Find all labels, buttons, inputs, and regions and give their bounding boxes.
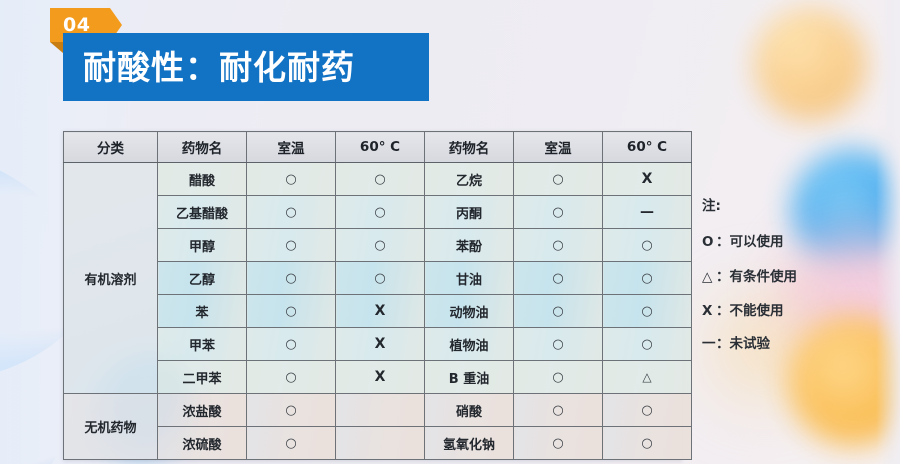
col-header-60c-left: 60° C bbox=[336, 132, 425, 163]
col-header-60c-right: 60° C bbox=[603, 132, 692, 163]
circle-icon: ○ bbox=[552, 337, 563, 352]
chemical-name-left: 甲苯 bbox=[158, 328, 247, 361]
sixtyc-result-left: ○ bbox=[336, 229, 425, 262]
category-cell: 无机药物 bbox=[64, 394, 158, 460]
sixtyc-result-right: ○ bbox=[603, 229, 692, 262]
sixtyc-result-left: ○ bbox=[336, 262, 425, 295]
circle-icon: ○ bbox=[374, 238, 385, 253]
table-row: 乙醇○○甘油○○ bbox=[64, 262, 692, 295]
col-header-chemical-right: 药物名 bbox=[425, 132, 514, 163]
chemical-name-right: 丙酮 bbox=[425, 196, 514, 229]
circle-icon: ○ bbox=[552, 205, 563, 220]
legend-item: O：可以使用 bbox=[702, 236, 877, 250]
circle-icon: ○ bbox=[552, 370, 563, 385]
sixtyc-result-left bbox=[336, 427, 425, 460]
sixtyc-result-left bbox=[336, 394, 425, 427]
circle-icon: ○ bbox=[285, 172, 296, 187]
col-header-category: 分类 bbox=[64, 132, 158, 163]
circle-icon: ○ bbox=[552, 436, 563, 451]
sixtyc-result-right: ○ bbox=[603, 328, 692, 361]
sixtyc-result-right: ○ bbox=[603, 427, 692, 460]
roomtemp-result-left: ○ bbox=[247, 163, 336, 196]
circle-icon: ○ bbox=[285, 436, 296, 451]
table-row: 甲苯○X植物油○○ bbox=[64, 328, 692, 361]
circle-icon: ○ bbox=[641, 337, 652, 352]
roomtemp-result-left: ○ bbox=[247, 394, 336, 427]
chemical-name-right: 甘油 bbox=[425, 262, 514, 295]
chemical-name-right: 动物油 bbox=[425, 295, 514, 328]
spec-table-container: 分类 药物名 室温 60° C 药物名 室温 60° C 有机溶剂醋酸○○乙烷○… bbox=[63, 131, 682, 460]
cross-icon: X bbox=[375, 336, 386, 352]
chemical-name-left: 浓盐酸 bbox=[158, 394, 247, 427]
chemical-name-left: 二甲苯 bbox=[158, 361, 247, 394]
circle-icon: ○ bbox=[285, 370, 296, 385]
roomtemp-result-right: ○ bbox=[514, 262, 603, 295]
sixtyc-result-left: ○ bbox=[336, 196, 425, 229]
title-banner: 耐酸性：耐化耐药 bbox=[63, 33, 429, 101]
table-row: 二甲苯○XB 重油○△ bbox=[64, 361, 692, 394]
circle-icon: ○ bbox=[552, 403, 563, 418]
legend-text: ：可以使用 bbox=[716, 234, 784, 250]
cross-icon: X bbox=[642, 171, 653, 187]
legend-text: ：有条件使用 bbox=[716, 269, 797, 285]
chemical-name-right: 苯酚 bbox=[425, 229, 514, 262]
roomtemp-result-right: ○ bbox=[514, 394, 603, 427]
sixtyc-result-left: X bbox=[336, 361, 425, 394]
col-header-chemical-left: 药物名 bbox=[158, 132, 247, 163]
circle-icon: ○ bbox=[641, 403, 652, 418]
dash-icon: — bbox=[640, 204, 654, 220]
sixtyc-result-right: △ bbox=[603, 361, 692, 394]
legend-title: 注: bbox=[702, 200, 877, 214]
roomtemp-result-right: ○ bbox=[514, 328, 603, 361]
roomtemp-result-right: ○ bbox=[514, 361, 603, 394]
legend-symbol: O bbox=[702, 236, 716, 250]
sixtyc-result-left: X bbox=[336, 295, 425, 328]
legend-text: ：不能使用 bbox=[716, 303, 784, 319]
right-veil-overlay bbox=[876, 0, 900, 464]
table-body: 有机溶剂醋酸○○乙烷○X乙基醋酸○○丙酮○—甲醇○○苯酚○○乙醇○○甘油○○苯○… bbox=[64, 163, 692, 460]
cross-icon: X bbox=[375, 369, 386, 385]
legend-item: X：不能使用 bbox=[702, 305, 877, 319]
circle-icon: ○ bbox=[285, 304, 296, 319]
circle-icon: ○ bbox=[552, 271, 563, 286]
legend-item: 一：未试验 bbox=[702, 338, 877, 352]
roomtemp-result-right: ○ bbox=[514, 295, 603, 328]
table-row: 乙基醋酸○○丙酮○— bbox=[64, 196, 692, 229]
table-row: 无机药物浓盐酸○硝酸○○ bbox=[64, 394, 692, 427]
orange-orb-top bbox=[754, 8, 866, 120]
page-title: 耐酸性：耐化耐药 bbox=[63, 51, 355, 84]
table-row: 甲醇○○苯酚○○ bbox=[64, 229, 692, 262]
circle-icon: ○ bbox=[552, 172, 563, 187]
sixtyc-result-right: ○ bbox=[603, 295, 692, 328]
circle-icon: ○ bbox=[641, 304, 652, 319]
chemical-name-left: 醋酸 bbox=[158, 163, 247, 196]
circle-icon: ○ bbox=[285, 403, 296, 418]
triangle-icon: △ bbox=[642, 370, 651, 384]
roomtemp-result-left: ○ bbox=[247, 196, 336, 229]
roomtemp-result-left: ○ bbox=[247, 295, 336, 328]
sixtyc-result-right: X bbox=[603, 163, 692, 196]
col-header-roomtemp-left: 室温 bbox=[247, 132, 336, 163]
legend-text: ：未试验 bbox=[716, 336, 770, 352]
circle-icon: ○ bbox=[374, 172, 385, 187]
sixtyc-result-left: X bbox=[336, 328, 425, 361]
table-header-row: 分类 药物名 室温 60° C 药物名 室温 60° C bbox=[64, 132, 692, 163]
circle-icon: ○ bbox=[285, 205, 296, 220]
sixtyc-result-right: — bbox=[603, 196, 692, 229]
chemical-name-right: 乙烷 bbox=[425, 163, 514, 196]
legend-item: △：有条件使用 bbox=[702, 271, 877, 285]
circle-icon: ○ bbox=[552, 238, 563, 253]
chemical-name-left: 乙基醋酸 bbox=[158, 196, 247, 229]
legend: 注: O：可以使用△：有条件使用X：不能使用一：未试验 bbox=[702, 200, 877, 372]
chemical-name-right: 氢氧化钠 bbox=[425, 427, 514, 460]
legend-symbol: X bbox=[702, 305, 716, 319]
cross-icon: X bbox=[375, 303, 386, 319]
circle-icon: ○ bbox=[285, 238, 296, 253]
roomtemp-result-left: ○ bbox=[247, 361, 336, 394]
roomtemp-result-right: ○ bbox=[514, 163, 603, 196]
legend-items: O：可以使用△：有条件使用X：不能使用一：未试验 bbox=[702, 236, 877, 352]
circle-icon: ○ bbox=[641, 238, 652, 253]
sixtyc-result-right: ○ bbox=[603, 262, 692, 295]
legend-symbol: △ bbox=[702, 271, 716, 285]
chemical-resistance-table: 分类 药物名 室温 60° C 药物名 室温 60° C 有机溶剂醋酸○○乙烷○… bbox=[63, 131, 692, 460]
circle-icon: ○ bbox=[552, 304, 563, 319]
chemical-name-right: 植物油 bbox=[425, 328, 514, 361]
legend-symbol: 一 bbox=[702, 338, 716, 352]
circle-icon: ○ bbox=[641, 436, 652, 451]
sixtyc-result-left: ○ bbox=[336, 163, 425, 196]
roomtemp-result-right: ○ bbox=[514, 427, 603, 460]
roomtemp-result-right: ○ bbox=[514, 196, 603, 229]
roomtemp-result-left: ○ bbox=[247, 427, 336, 460]
circle-icon: ○ bbox=[641, 271, 652, 286]
chemical-name-left: 苯 bbox=[158, 295, 247, 328]
table-row: 浓硫酸○氢氧化钠○○ bbox=[64, 427, 692, 460]
table-head: 分类 药物名 室温 60° C 药物名 室温 60° C bbox=[64, 132, 692, 163]
circle-icon: ○ bbox=[285, 271, 296, 286]
roomtemp-result-left: ○ bbox=[247, 229, 336, 262]
sixtyc-result-right: ○ bbox=[603, 394, 692, 427]
category-cell: 有机溶剂 bbox=[64, 163, 158, 394]
table-row: 苯○X动物油○○ bbox=[64, 295, 692, 328]
circle-icon: ○ bbox=[374, 205, 385, 220]
table-row: 有机溶剂醋酸○○乙烷○X bbox=[64, 163, 692, 196]
circle-icon: ○ bbox=[374, 271, 385, 286]
circle-icon: ○ bbox=[285, 337, 296, 352]
col-header-roomtemp-right: 室温 bbox=[514, 132, 603, 163]
chemical-name-left: 甲醇 bbox=[158, 229, 247, 262]
roomtemp-result-left: ○ bbox=[247, 328, 336, 361]
chemical-name-left: 浓硫酸 bbox=[158, 427, 247, 460]
roomtemp-result-right: ○ bbox=[514, 229, 603, 262]
chemical-name-left: 乙醇 bbox=[158, 262, 247, 295]
chemical-name-right: B 重油 bbox=[425, 361, 514, 394]
chemical-name-right: 硝酸 bbox=[425, 394, 514, 427]
roomtemp-result-left: ○ bbox=[247, 262, 336, 295]
